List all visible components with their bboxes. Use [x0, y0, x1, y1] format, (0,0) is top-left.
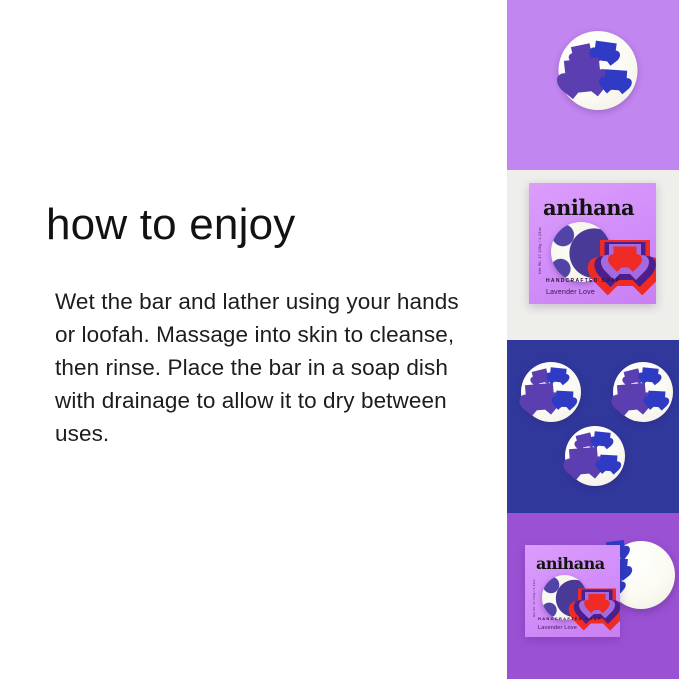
heart-shape-blue-medium	[604, 69, 627, 90]
handcrafted-soap-label: HANDCRAFTED SOAP	[546, 278, 621, 284]
instructions-text: Wet the bar and lather using your hands …	[55, 285, 475, 450]
heart-ring-inner-red	[614, 247, 637, 268]
heart-shape-violet-large	[525, 382, 555, 410]
heart-shape-violet-large	[569, 446, 599, 474]
soap-bar-image	[613, 362, 673, 422]
heart-shape-blue-medium	[647, 390, 665, 407]
gallery-panel-product-box[interactable]: anihana Net Wt. 17 100g / 4.23oz	[507, 170, 679, 340]
heart-shape-blue-medium	[555, 390, 573, 407]
gallery-panel-lifestyle[interactable]: anihana Net Wt. 17 100g / 4.23oz HANDCRA…	[507, 513, 679, 679]
brand-name: anihana	[536, 554, 605, 573]
heart-shape-violet-large	[617, 382, 647, 410]
net-weight-label: Net Wt. 17 100g / 4.23oz	[538, 227, 542, 274]
gallery-panel-three-soaps[interactable]	[507, 340, 679, 513]
heart-shape-blue-small	[593, 431, 610, 447]
product-page: how to enjoy Wet the bar and lather usin…	[0, 0, 679, 679]
soap-bar-image	[565, 426, 625, 486]
heart-shape-blue-small	[641, 367, 658, 383]
variant-name-label: Lavender Love	[538, 625, 577, 631]
product-package: anihana Net Wt. 17 100g / 4.23oz	[529, 183, 656, 304]
heart-shape-violet-large	[564, 57, 602, 93]
soap-bar-image	[559, 31, 638, 110]
heart-ring-inner-red	[589, 594, 606, 610]
page-title: how to enjoy	[46, 202, 295, 248]
heart-shape-blue-medium	[599, 454, 617, 471]
gallery-panel-hero-soap[interactable]	[507, 0, 679, 170]
gallery-pane: anihana Net Wt. 17 100g / 4.23oz	[507, 0, 679, 679]
brand-name: anihana	[543, 195, 634, 220]
net-weight-label: Net Wt. 17 100g / 4.23oz	[532, 579, 536, 617]
soap-bar-image	[521, 362, 581, 422]
variant-name-label: Lavender Love	[546, 289, 595, 296]
handcrafted-soap-label: HANDCRAFTED SOAP	[538, 616, 602, 621]
copy-pane: how to enjoy Wet the bar and lather usin…	[0, 0, 507, 679]
product-package: anihana Net Wt. 17 100g / 4.23oz HANDCRA…	[525, 545, 620, 637]
heart-shape-blue-small	[549, 367, 566, 383]
